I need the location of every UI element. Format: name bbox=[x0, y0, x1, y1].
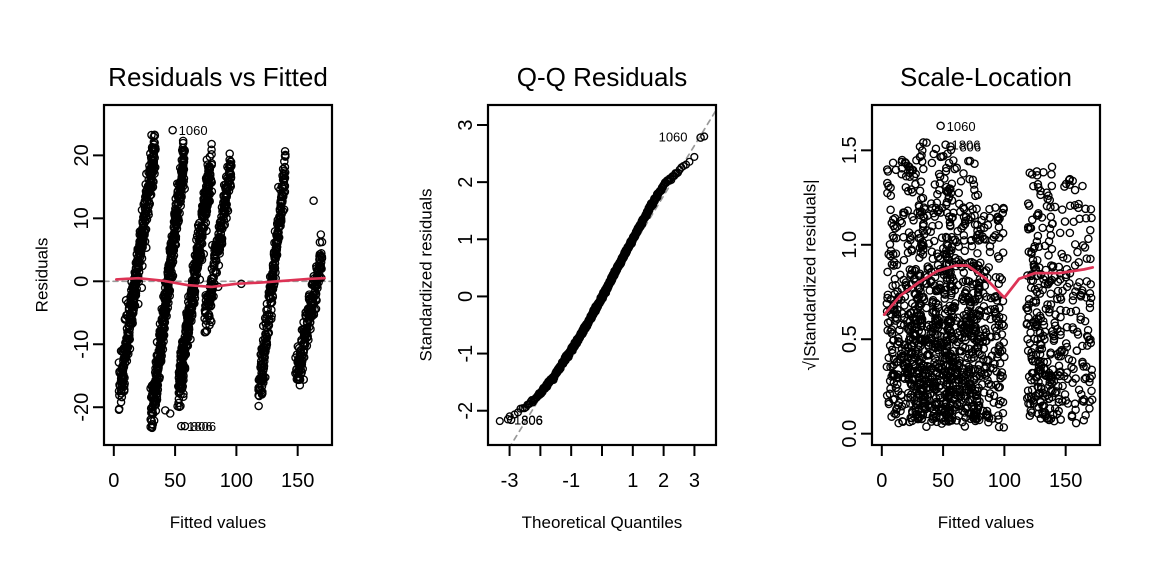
y-axis-label: Residuals bbox=[33, 238, 52, 313]
data-point bbox=[931, 181, 938, 188]
x-tick-label: 0 bbox=[108, 470, 119, 492]
x-axis-label: Theoretical Quantiles bbox=[522, 513, 683, 532]
y-tick-label: -10 bbox=[71, 330, 93, 359]
x-tick-label: 100 bbox=[988, 470, 1021, 492]
x-tick-label: 100 bbox=[220, 470, 253, 492]
panel-scale-location: Scale-Location106018068060501001500.00.5… bbox=[768, 0, 1152, 576]
y-tick-label: -1 bbox=[455, 345, 477, 363]
data-point bbox=[1059, 382, 1066, 389]
point-label: 806 bbox=[959, 140, 981, 155]
data-point bbox=[496, 418, 503, 425]
data-point bbox=[317, 231, 324, 238]
data-point bbox=[1082, 318, 1089, 325]
data-point bbox=[1048, 163, 1055, 170]
point-label: 1060 bbox=[947, 119, 976, 134]
diagnostic-plot-figure: Residuals vs Fitted10601806806050100150-… bbox=[0, 0, 1152, 576]
data-point bbox=[1039, 224, 1046, 231]
y-tick-label: 1 bbox=[455, 234, 477, 245]
data-point bbox=[884, 319, 891, 326]
x-tick-label: 50 bbox=[932, 470, 954, 492]
plot-area: 10601806806 bbox=[104, 123, 332, 434]
data-point bbox=[169, 127, 176, 134]
panel-qq-residuals: Q-Q Residuals10601806806-3-1123-2-10123T… bbox=[384, 0, 768, 576]
data-point bbox=[887, 206, 894, 213]
y-tick-label: -20 bbox=[71, 393, 93, 422]
x-axis-label: Fitted values bbox=[938, 513, 1034, 532]
panel-residuals-vs-fitted: Residuals vs Fitted10601806806050100150-… bbox=[0, 0, 384, 576]
data-point bbox=[1030, 183, 1037, 190]
data-point bbox=[900, 256, 907, 263]
panel-title: Residuals vs Fitted bbox=[108, 62, 328, 92]
y-tick-label: 0.0 bbox=[839, 420, 861, 448]
data-point bbox=[1079, 242, 1086, 249]
data-point bbox=[310, 197, 317, 204]
data-point bbox=[889, 159, 896, 166]
plot-area: 10601806806 bbox=[883, 119, 1096, 431]
data-point bbox=[957, 178, 964, 185]
data-point bbox=[1048, 182, 1055, 189]
y-axis-label: Standardized residuals bbox=[417, 189, 436, 362]
data-point bbox=[1061, 218, 1068, 225]
data-point bbox=[937, 122, 944, 129]
panel-title: Scale-Location bbox=[900, 62, 1072, 92]
data-point bbox=[1087, 227, 1094, 234]
data-point bbox=[1082, 205, 1089, 212]
y-tick-label: -2 bbox=[455, 402, 477, 420]
y-tick-label: 0.5 bbox=[839, 325, 861, 353]
data-point bbox=[1067, 202, 1074, 209]
point-label: 806 bbox=[191, 419, 213, 434]
data-point bbox=[920, 165, 927, 172]
data-point bbox=[1072, 241, 1079, 248]
scale-location-svg: Scale-Location106018068060501001500.00.5… bbox=[768, 0, 1152, 576]
data-point bbox=[1047, 213, 1054, 220]
point-label: 1060 bbox=[179, 123, 208, 138]
y-tick-label: 0 bbox=[455, 291, 477, 302]
y-tick-label: 3 bbox=[455, 119, 477, 130]
x-tick-label: 150 bbox=[1049, 470, 1082, 492]
y-tick-label: 0 bbox=[71, 276, 93, 287]
data-point bbox=[901, 302, 908, 309]
x-tick-label: 1 bbox=[627, 470, 638, 492]
data-point bbox=[1070, 292, 1077, 299]
x-tick-label: 50 bbox=[164, 470, 186, 492]
panel-title: Q-Q Residuals bbox=[517, 62, 688, 92]
data-point bbox=[891, 225, 898, 232]
data-point bbox=[884, 268, 891, 275]
data-point bbox=[1086, 405, 1093, 412]
y-tick-label: 1.0 bbox=[839, 231, 861, 259]
data-point bbox=[1086, 304, 1093, 311]
x-tick-label: -1 bbox=[562, 470, 580, 492]
data-point bbox=[1064, 255, 1071, 262]
data-point bbox=[691, 154, 698, 161]
data-point bbox=[1057, 229, 1064, 236]
data-point bbox=[1051, 203, 1058, 210]
data-point bbox=[1079, 182, 1086, 189]
x-tick-label: 3 bbox=[689, 470, 700, 492]
plot-area: 10601806806 bbox=[488, 110, 716, 482]
x-tick-label: 2 bbox=[658, 470, 669, 492]
data-point bbox=[1088, 387, 1095, 394]
data-point bbox=[916, 187, 923, 194]
data-point bbox=[1048, 171, 1055, 178]
data-point bbox=[1066, 229, 1073, 236]
data-point bbox=[255, 402, 262, 409]
residuals-vs-fitted-svg: Residuals vs Fitted10601806806050100150-… bbox=[0, 0, 384, 576]
data-point bbox=[1073, 347, 1080, 354]
data-point bbox=[1059, 206, 1066, 213]
data-point bbox=[1073, 419, 1080, 426]
y-tick-label: 2 bbox=[455, 177, 477, 188]
qq-residuals-svg: Q-Q Residuals10601806806-3-1123-2-10123T… bbox=[384, 0, 768, 576]
x-tick-label: 0 bbox=[876, 470, 887, 492]
data-point bbox=[1081, 244, 1088, 251]
data-point bbox=[1047, 290, 1054, 297]
x-axis-label: Fitted values bbox=[170, 513, 266, 532]
data-point bbox=[1071, 186, 1078, 193]
data-point bbox=[1076, 279, 1083, 286]
data-point bbox=[1085, 235, 1092, 242]
data-point bbox=[1048, 245, 1055, 252]
point-label: 806 bbox=[521, 413, 543, 428]
data-point bbox=[955, 189, 962, 196]
data-point bbox=[928, 159, 935, 166]
y-axis-label: √|Standardized residuals| bbox=[801, 179, 820, 370]
y-tick-label: 20 bbox=[71, 144, 93, 166]
x-tick-label: 150 bbox=[281, 470, 314, 492]
data-point bbox=[1074, 248, 1081, 255]
loess-smoother bbox=[116, 278, 324, 287]
y-tick-label: 10 bbox=[71, 207, 93, 229]
panel-border bbox=[488, 105, 716, 445]
x-tick-label: -3 bbox=[501, 470, 519, 492]
data-point bbox=[1000, 424, 1007, 431]
point-label: 1060 bbox=[659, 130, 688, 145]
data-point bbox=[974, 250, 981, 257]
data-point bbox=[1070, 365, 1077, 372]
data-point bbox=[960, 170, 967, 177]
y-tick-label: 1.5 bbox=[839, 136, 861, 164]
